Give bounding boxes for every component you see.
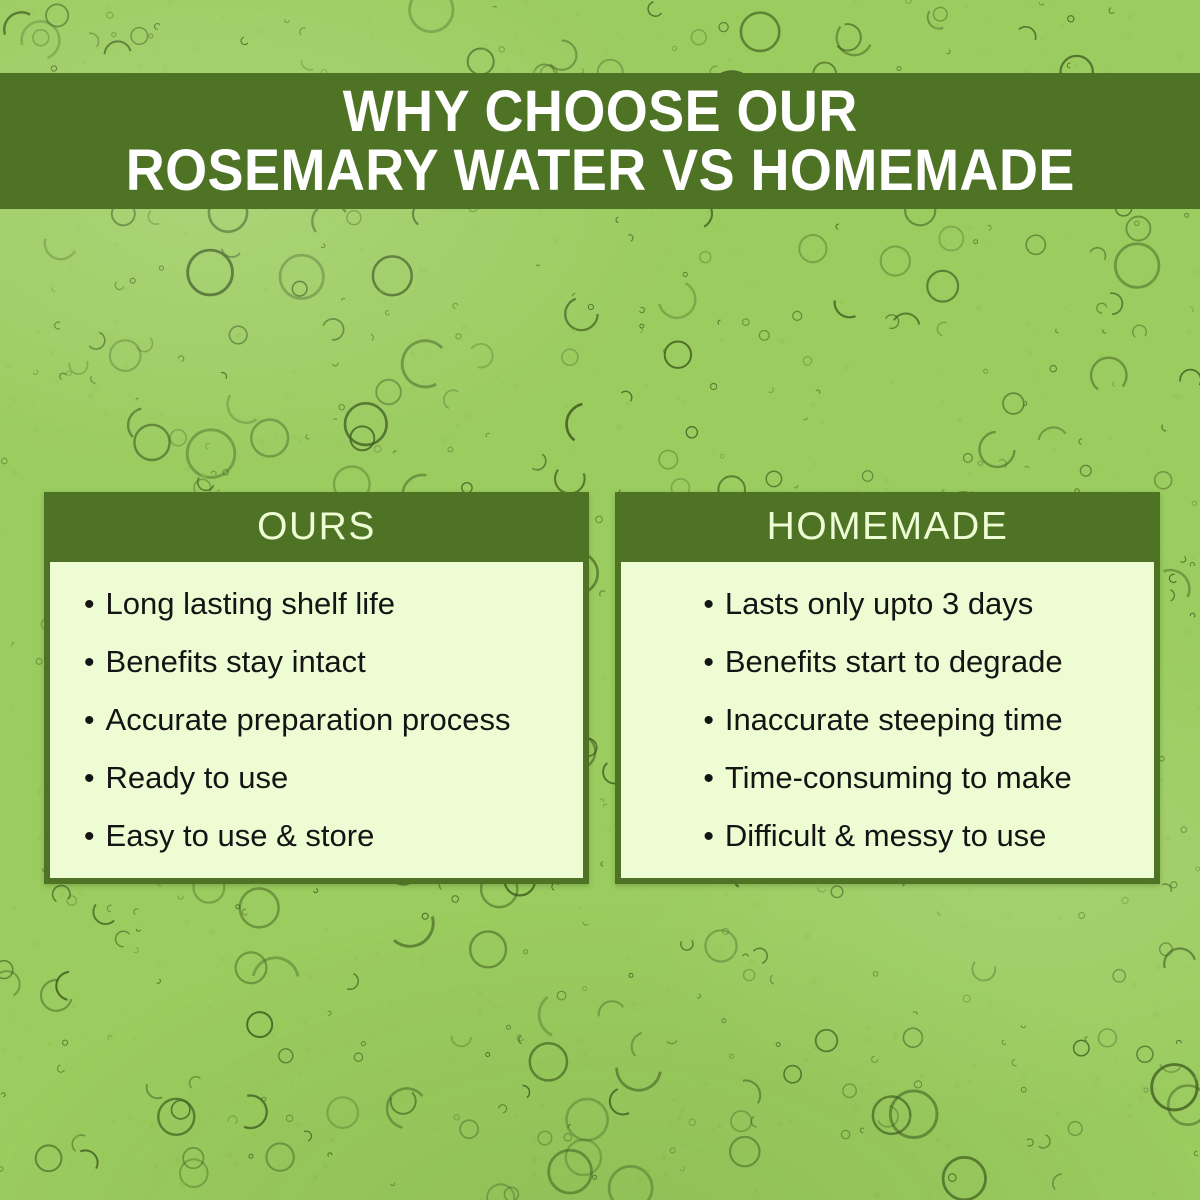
list-item: •Benefits stay intact [84, 633, 583, 691]
list-item: •Accurate preparation process [84, 691, 583, 749]
title-band: WHY CHOOSE OUR ROSEMARY WATER VS HOMEMAD… [0, 73, 1200, 209]
bullet-icon: • [703, 764, 714, 794]
bullet-icon: • [84, 764, 95, 794]
bullet-icon: • [84, 822, 95, 852]
card-ours-header: OURS [44, 492, 589, 562]
page-title: WHY CHOOSE OUR ROSEMARY WATER VS HOMEMAD… [125, 82, 1074, 200]
list-item-label: Lasts only upto 3 days [725, 588, 1033, 619]
card-homemade-header: HOMEMADE [615, 492, 1160, 562]
homemade-drawback-list: •Lasts only upto 3 days •Benefits start … [703, 575, 1071, 865]
bullet-icon: • [703, 648, 714, 678]
card-homemade-title: HOMEMADE [767, 505, 1009, 549]
poster-canvas: WHY CHOOSE OUR ROSEMARY WATER VS HOMEMAD… [0, 0, 1200, 1200]
list-item-label: Benefits start to degrade [725, 646, 1063, 677]
list-item-label: Easy to use & store [106, 820, 375, 851]
card-ours-body: •Long lasting shelf life •Benefits stay … [50, 562, 583, 878]
list-item: •Long lasting shelf life [84, 575, 583, 633]
bullet-icon: • [703, 822, 714, 852]
bullet-icon: • [703, 590, 714, 620]
list-item: •Difficult & messy to use [703, 807, 1071, 865]
list-item: •Easy to use & store [84, 807, 583, 865]
list-item-label: Long lasting shelf life [106, 588, 396, 619]
bullet-icon: • [84, 648, 95, 678]
bullet-icon: • [703, 706, 714, 736]
ours-benefit-list: •Long lasting shelf life •Benefits stay … [84, 575, 583, 865]
bullet-icon: • [84, 590, 95, 620]
list-item: •Inaccurate steeping time [703, 691, 1071, 749]
bullet-icon: • [84, 706, 95, 736]
list-item: •Lasts only upto 3 days [703, 575, 1071, 633]
card-homemade: HOMEMADE •Lasts only upto 3 days •Benefi… [615, 492, 1160, 884]
list-item: •Benefits start to degrade [703, 633, 1071, 691]
comparison-cards: OURS •Long lasting shelf life •Benefits … [44, 492, 1160, 884]
list-item: •Time-consuming to make [703, 749, 1071, 807]
list-item-label: Ready to use [106, 762, 289, 793]
list-item-label: Inaccurate steeping time [725, 704, 1063, 735]
list-item-label: Accurate preparation process [106, 704, 511, 735]
list-item-label: Time-consuming to make [725, 762, 1072, 793]
list-item-label: Difficult & messy to use [725, 820, 1047, 851]
card-ours: OURS •Long lasting shelf life •Benefits … [44, 492, 589, 884]
list-item-label: Benefits stay intact [106, 646, 366, 677]
card-ours-title: OURS [257, 505, 376, 549]
card-homemade-body: •Lasts only upto 3 days •Benefits start … [621, 562, 1154, 878]
list-item: •Ready to use [84, 749, 583, 807]
